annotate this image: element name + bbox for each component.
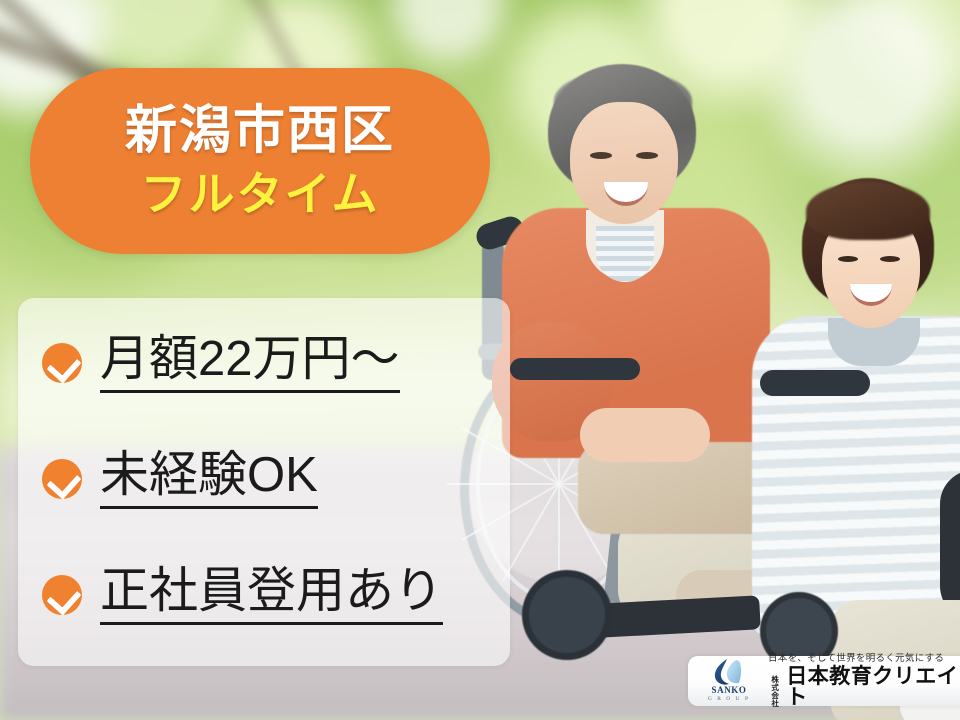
feature-label: 月額22万円～ bbox=[100, 334, 400, 393]
feature-label: 未経験OK bbox=[100, 450, 318, 509]
company-name-line: 株式 会社 日本教育クリエイト bbox=[768, 666, 960, 708]
badge-area-label: 新潟市西区 bbox=[125, 105, 395, 157]
caregiver-hair-fringe bbox=[806, 182, 930, 240]
caregiver-eye bbox=[880, 256, 900, 262]
caregiver-eye bbox=[838, 256, 858, 262]
wheelchair-caster-wheel bbox=[522, 570, 612, 660]
feature-item: 月額22万円～ bbox=[42, 334, 400, 393]
check-circle-icon bbox=[42, 459, 82, 499]
wheelchair-armrest bbox=[510, 358, 640, 380]
badge-employment-type-label: フルタイム bbox=[140, 171, 379, 217]
company-legal-form: 株式 会社 bbox=[768, 676, 782, 708]
senior-eye bbox=[590, 152, 612, 159]
sanko-brand-label: SANKO bbox=[711, 686, 746, 696]
feature-item: 正社員登用あり bbox=[42, 566, 443, 625]
sanko-group-logo-icon bbox=[711, 658, 747, 686]
senior-inner-shirt bbox=[596, 226, 654, 282]
sanko-brand-sub-label: G R O U P bbox=[708, 696, 750, 703]
wheelchair-armrest bbox=[760, 370, 870, 396]
location-employment-badge: 新潟市西区 フルタイム bbox=[30, 68, 490, 254]
company-legal-form-line2: 会社 bbox=[771, 691, 779, 708]
senior-eye bbox=[636, 152, 658, 159]
company-logo-bar: SANKO G R O U P 日本を、そして世界を明るく元気にする 株式 会社… bbox=[688, 656, 960, 706]
senior-hands bbox=[580, 408, 710, 462]
check-circle-icon bbox=[42, 575, 82, 615]
company-legal-form-line1: 株式 bbox=[771, 675, 779, 692]
check-circle-icon bbox=[42, 343, 82, 383]
sanko-group-logo: SANKO G R O U P bbox=[698, 658, 760, 704]
job-ad-banner: 新潟市西区 フルタイム 月額22万円～ 未経験OK 正社員登用あり bbox=[0, 0, 960, 720]
company-name: 日本教育クリエイト bbox=[786, 666, 960, 708]
feature-card: 月額22万円～ 未経験OK 正社員登用あり bbox=[18, 298, 510, 666]
company-identity: 日本を、そして世界を明るく元気にする 株式 会社 日本教育クリエイト bbox=[768, 654, 960, 708]
company-tagline: 日本を、そして世界を明るく元気にする bbox=[768, 654, 960, 664]
feature-label: 正社員登用あり bbox=[100, 566, 443, 625]
caregiver-sleeve bbox=[940, 470, 960, 620]
feature-item: 未経験OK bbox=[42, 450, 318, 509]
